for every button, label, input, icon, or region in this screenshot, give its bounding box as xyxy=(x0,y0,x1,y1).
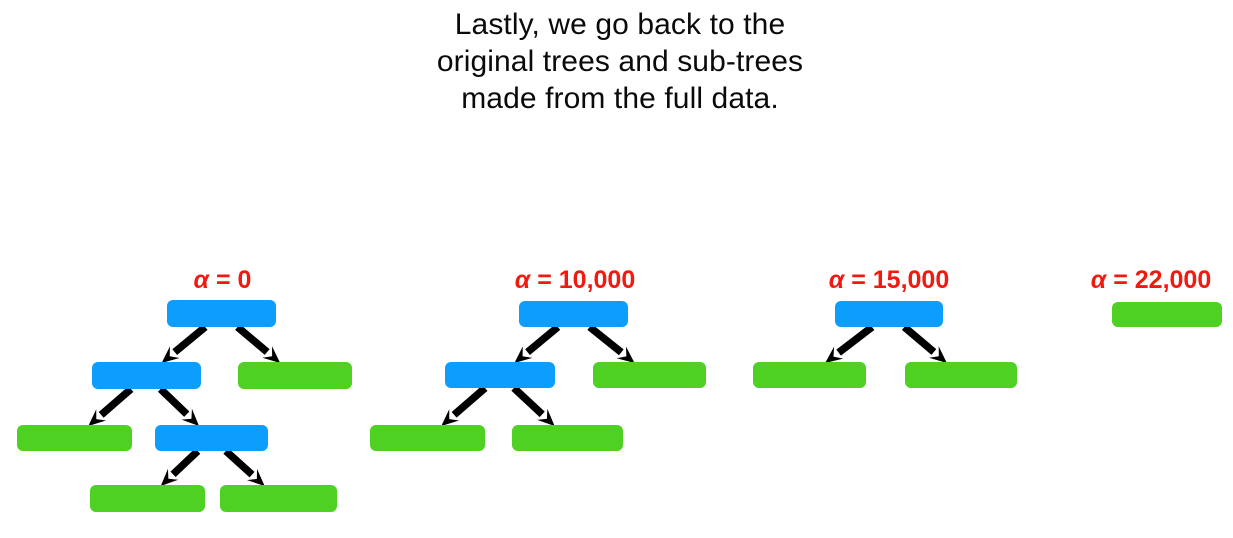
tree-node-blue-root xyxy=(519,301,628,327)
tree-node-green-level3-left xyxy=(90,485,205,512)
tree-node-green-root xyxy=(1112,302,1222,327)
alpha-value-text: = 10,000 xyxy=(530,266,635,294)
alpha-symbol: α xyxy=(515,266,531,294)
tree-node-green-level1-right xyxy=(593,362,706,388)
tree-node-blue-level2-right xyxy=(155,425,268,451)
tree-node-green-level2-left xyxy=(370,425,485,451)
tree-edge-level1-left-to-level2-left xyxy=(441,388,485,426)
tree-edge-level1-left-to-level2-left xyxy=(88,389,131,426)
alpha-label-15000: α = 15,000 xyxy=(810,266,968,294)
tree-node-blue-level1-left xyxy=(92,362,201,389)
slide-canvas: Lastly, we go back to the original trees… xyxy=(0,0,1233,538)
tree-edge-root-to-level1-right xyxy=(904,327,946,363)
alpha-value-text: = 15,000 xyxy=(844,266,949,294)
tree-edge-level2-right-to-level3-right xyxy=(226,451,265,486)
tree-node-green-level1-left xyxy=(753,362,866,388)
tree-node-green-level2-right xyxy=(512,425,623,451)
alpha-symbol: α xyxy=(194,266,210,294)
alpha-label-0: α = 0 xyxy=(170,266,275,294)
alpha-label-22000: α = 22,000 xyxy=(1072,266,1230,294)
tree-node-green-level3-right xyxy=(220,485,337,512)
tree-edge-root-to-level1-right xyxy=(590,327,635,363)
tree-edge-level1-left-to-level2-right xyxy=(514,388,555,426)
alpha-value-text: = 22,000 xyxy=(1106,266,1211,294)
tree-edge-level2-right-to-level3-left xyxy=(161,451,198,486)
tree-edge-root-to-level1-left xyxy=(514,327,557,363)
tree-node-blue-root xyxy=(167,300,276,327)
alpha-label-10000: α = 10,000 xyxy=(496,266,654,294)
tree-node-green-level1-right xyxy=(905,362,1017,388)
tree-edge-root-to-level1-left xyxy=(825,327,872,363)
tree-node-blue-root xyxy=(835,301,943,327)
tree-node-blue-level1-left xyxy=(445,362,555,388)
tree-node-green-level2-left xyxy=(17,425,132,451)
slide-caption: Lastly, we go back to the original trees… xyxy=(390,6,850,117)
tree-node-green-level1-right xyxy=(238,362,352,389)
tree-edge-root-to-level1-right xyxy=(238,327,281,363)
alpha-symbol: α xyxy=(1091,266,1107,294)
tree-edge-level1-left-to-level2-right xyxy=(161,389,199,426)
alpha-value-text: = 0 xyxy=(209,266,251,294)
alpha-symbol: α xyxy=(829,266,845,294)
tree-edge-root-to-level1-left xyxy=(162,327,206,363)
